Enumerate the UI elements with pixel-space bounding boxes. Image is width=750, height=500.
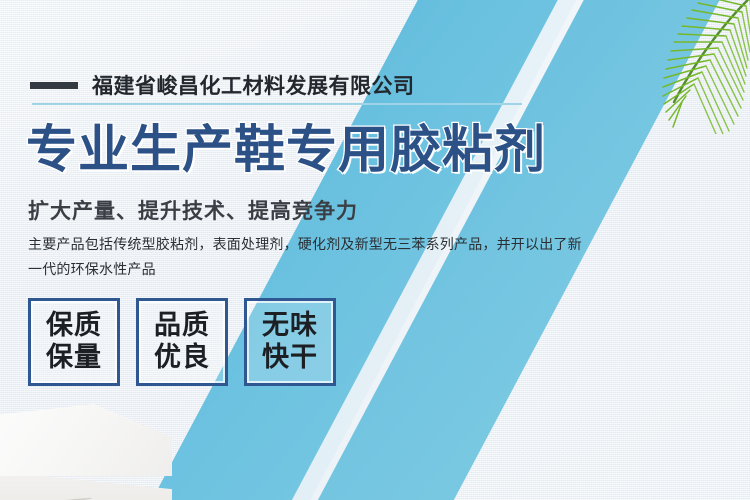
banner-content: 福建省峻昌化工材料发展有限公司 专业生产鞋专用胶粘剂 扩大产量、提升技术、提高竞… (0, 0, 750, 500)
feature-badge: 保质 保量 (28, 298, 120, 386)
feature-badge-label: 品质 优良 (154, 310, 210, 374)
header-divider (32, 103, 522, 105)
body-text: 主要产品包括传统型胶粘剂，表面处理剂，硬化剂及新型无三苯系列产品，并开以出了新一… (28, 232, 588, 281)
company-name: 福建省峻昌化工材料发展有限公司 (92, 70, 415, 100)
promo-banner: 福建省峻昌化工材料发展有限公司 专业生产鞋专用胶粘剂 扩大产量、提升技术、提高竞… (0, 0, 750, 500)
feature-badge: 品质 优良 (136, 298, 228, 386)
company-name-row: 福建省峻昌化工材料发展有限公司 (30, 70, 415, 100)
feature-badge-label: 无味 快干 (262, 310, 318, 374)
feature-badge-list: 保质 保量 品质 优良 无味 快干 (28, 298, 336, 386)
headline: 专业生产鞋专用胶粘剂 (26, 123, 546, 177)
dash-rule-icon (30, 82, 78, 89)
subheadline: 扩大产量、提升技术、提高竞争力 (28, 195, 358, 225)
feature-badge: 无味 快干 (244, 298, 336, 386)
feature-badge-label: 保质 保量 (46, 310, 102, 374)
